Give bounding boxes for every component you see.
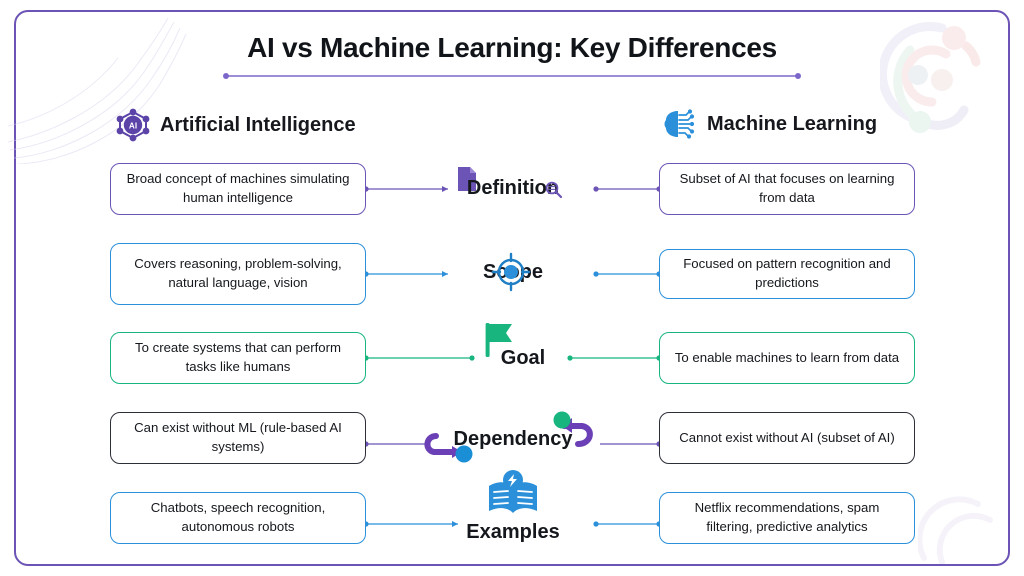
row-examples-right-connector [592, 518, 662, 530]
row-examples-left-box[interactable]: Chatbots, speech recognition, autonomous… [110, 492, 366, 544]
column-header-artificial-intelligence: AI Artificial Intelligence [116, 108, 356, 142]
column-header-label: Machine Learning [707, 113, 877, 136]
ai-network-node-icon: AI [116, 108, 150, 142]
row-goal-right-connector [566, 352, 662, 364]
row-examples-right-text: Netflix recommendations, spam filtering,… [670, 499, 904, 536]
row-dependency-center-text: Dependency [454, 428, 573, 451]
row-dependency-right-text: Cannot exist without AI (subset of AI) [679, 429, 895, 448]
row-examples-right-box[interactable]: Netflix recommendations, spam filtering,… [659, 492, 915, 544]
row-goal-left-text: To create systems that can perform tasks… [121, 339, 355, 376]
column-header-machine-learning: Machine Learning [663, 108, 877, 140]
row-dependency-left-text: Can exist without ML (rule-based AI syst… [121, 419, 355, 456]
row-goal-left-box[interactable]: To create systems that can perform tasks… [110, 332, 366, 384]
column-header-label: Artificial Intelligence [160, 114, 356, 137]
title-underline [222, 72, 802, 80]
row-scope-left-text: Covers reasoning, problem-solving, natur… [121, 255, 355, 292]
row-examples-left-text: Chatbots, speech recognition, autonomous… [121, 499, 355, 536]
page-title: AI vs Machine Learning: Key Differences [0, 32, 1024, 64]
target-crosshair-icon [490, 251, 532, 293]
infographic-canvas: AI vs Machine Learning: Key Differences … [0, 0, 1024, 576]
row-scope-right-connector [592, 268, 662, 280]
row-scope-left-box[interactable]: Covers reasoning, problem-solving, natur… [110, 243, 366, 305]
row-examples-center-text: Examples [466, 521, 559, 544]
row-definition-right-connector [592, 183, 662, 195]
row-definition-right-text: Subset of AI that focuses on learning fr… [670, 170, 904, 207]
corner-decoration [918, 494, 1008, 564]
row-goal-center-text: Goal [501, 347, 545, 370]
row-dependency-center-label: Dependency [400, 418, 626, 460]
row-definition-right-box[interactable]: Subset of AI that focuses on learning fr… [659, 163, 915, 215]
magnifier-icon [545, 181, 563, 199]
svg-text:AI: AI [129, 121, 137, 130]
row-scope-right-text: Focused on pattern recognition and predi… [670, 255, 904, 292]
row-definition-left-text: Broad concept of machines simulating hum… [121, 170, 355, 207]
open-book-lightning-icon [485, 470, 541, 518]
row-dependency-right-box[interactable]: Cannot exist without AI (subset of AI) [659, 412, 915, 464]
brain-circuit-icon [663, 108, 697, 140]
row-dependency-left-box[interactable]: Can exist without ML (rule-based AI syst… [110, 412, 366, 464]
row-goal-right-box[interactable]: To enable machines to learn from data [659, 332, 915, 384]
arc-decoration [880, 10, 1010, 150]
page-title-text: AI vs Machine Learning: Key Differences [247, 32, 777, 63]
row-scope-right-box[interactable]: Focused on pattern recognition and predi… [659, 249, 915, 299]
row-goal-right-text: To enable machines to learn from data [675, 349, 899, 368]
row-definition-left-box[interactable]: Broad concept of machines simulating hum… [110, 163, 366, 215]
